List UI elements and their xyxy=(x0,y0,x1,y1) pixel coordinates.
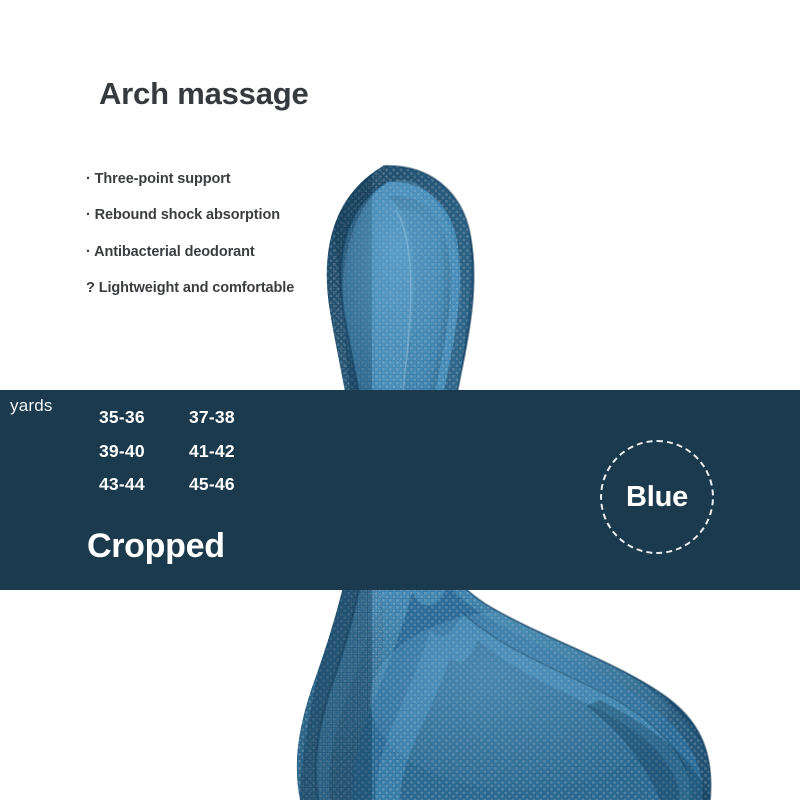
feature-item: · Rebound shock absorption xyxy=(86,206,301,225)
bullet-marker: · xyxy=(86,244,91,260)
color-badge-label: Blue xyxy=(626,481,688,514)
feature-label: Rebound shock absorption xyxy=(95,207,280,223)
table-row: 43-44 45-46 xyxy=(99,476,279,510)
bullet-marker: · xyxy=(86,207,91,223)
size-cell[interactable]: 39-40 xyxy=(99,443,189,477)
color-badge[interactable]: Blue xyxy=(600,440,714,554)
bullet-marker: · xyxy=(86,171,91,187)
feature-label: Lightweight and comfortable xyxy=(99,280,294,296)
feature-item: ? Lightweight and comfortable xyxy=(86,279,301,298)
size-cell[interactable]: 35-36 xyxy=(99,409,189,443)
bullet-marker: ? xyxy=(86,280,95,296)
feature-item: · Antibacterial deodorant xyxy=(86,243,301,262)
feature-item: · Three-point support xyxy=(86,170,301,189)
table-row: 35-36 37-38 xyxy=(99,409,279,443)
product-marketing-image: Arch massage · Three-point support · Reb… xyxy=(0,0,800,800)
feature-list: · Three-point support · Rebound shock ab… xyxy=(86,170,301,315)
size-cell[interactable]: 37-38 xyxy=(189,409,279,443)
size-cell[interactable]: 41-42 xyxy=(189,443,279,477)
size-cell[interactable]: 43-44 xyxy=(99,476,189,510)
size-chart: 35-36 37-38 39-40 41-42 43-44 45-46 xyxy=(99,409,279,510)
feature-label: Antibacterial deodorant xyxy=(94,244,254,260)
page-title: Arch massage xyxy=(99,76,309,112)
size-cell[interactable]: 45-46 xyxy=(189,476,279,510)
size-unit-label: yards xyxy=(10,396,53,416)
table-row: 39-40 41-42 xyxy=(99,443,279,477)
feature-label: Three-point support xyxy=(95,171,231,187)
cropped-label: Cropped xyxy=(87,527,225,566)
